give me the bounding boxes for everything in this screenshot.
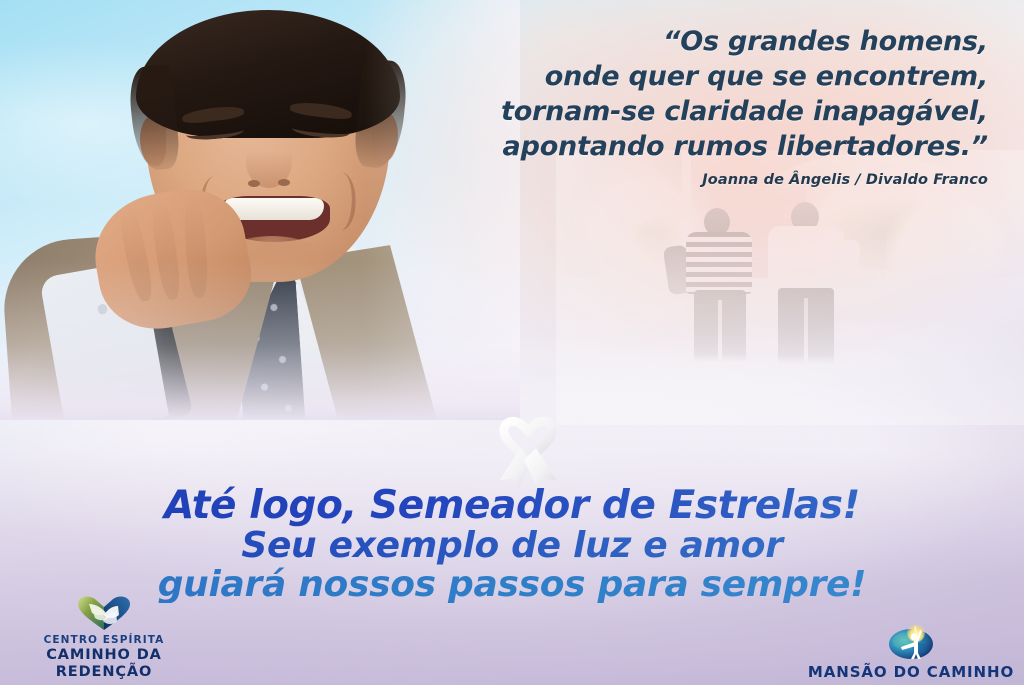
background-photo-two-figures — [556, 150, 1024, 425]
quote-line-4: apontando rumos libertadores.” — [388, 129, 988, 164]
quote-line-3: tornam-se claridade inapagável, — [388, 94, 988, 129]
tribute-line-1: Até logo, Semeador de Estrelas! — [0, 486, 1024, 528]
logo-left-line-1: CENTRO ESPÍRITA — [6, 634, 202, 647]
ribbon-icon — [494, 412, 562, 488]
quote-text: “Os grandes homens, onde quer que se enc… — [388, 24, 988, 164]
tribute-line-2: Seu exemplo de luz e amor — [0, 528, 1024, 567]
logo-mansao-do-caminho: MANSÃO DO CAMINHO — [806, 621, 1016, 681]
tribute-message: Até logo, Semeador de Estrelas! Seu exem… — [0, 486, 1024, 603]
background-photo-fade — [556, 150, 1024, 425]
logo-centro-espirita: CENTRO ESPÍRITA CAMINHO DA REDENÇÃO — [6, 594, 202, 681]
quote-line-2: onde quer que se encontrem, — [388, 59, 988, 94]
white-mourning-ribbon — [494, 412, 562, 488]
logo-left-line-2: CAMINHO DA REDENÇÃO — [6, 647, 202, 681]
quote-line-1: “Os grandes homens, — [388, 24, 988, 59]
logo-right-line-1: MANSÃO DO CAMINHO — [806, 663, 1016, 681]
globe-torch-figure-icon — [885, 621, 937, 661]
heart-hands-icon — [76, 594, 132, 632]
quote-attribution: Joanna de Ângelis / Divaldo Franco — [388, 172, 988, 188]
memorial-poster: “Os grandes homens, onde quer que se enc… — [0, 0, 1024, 685]
